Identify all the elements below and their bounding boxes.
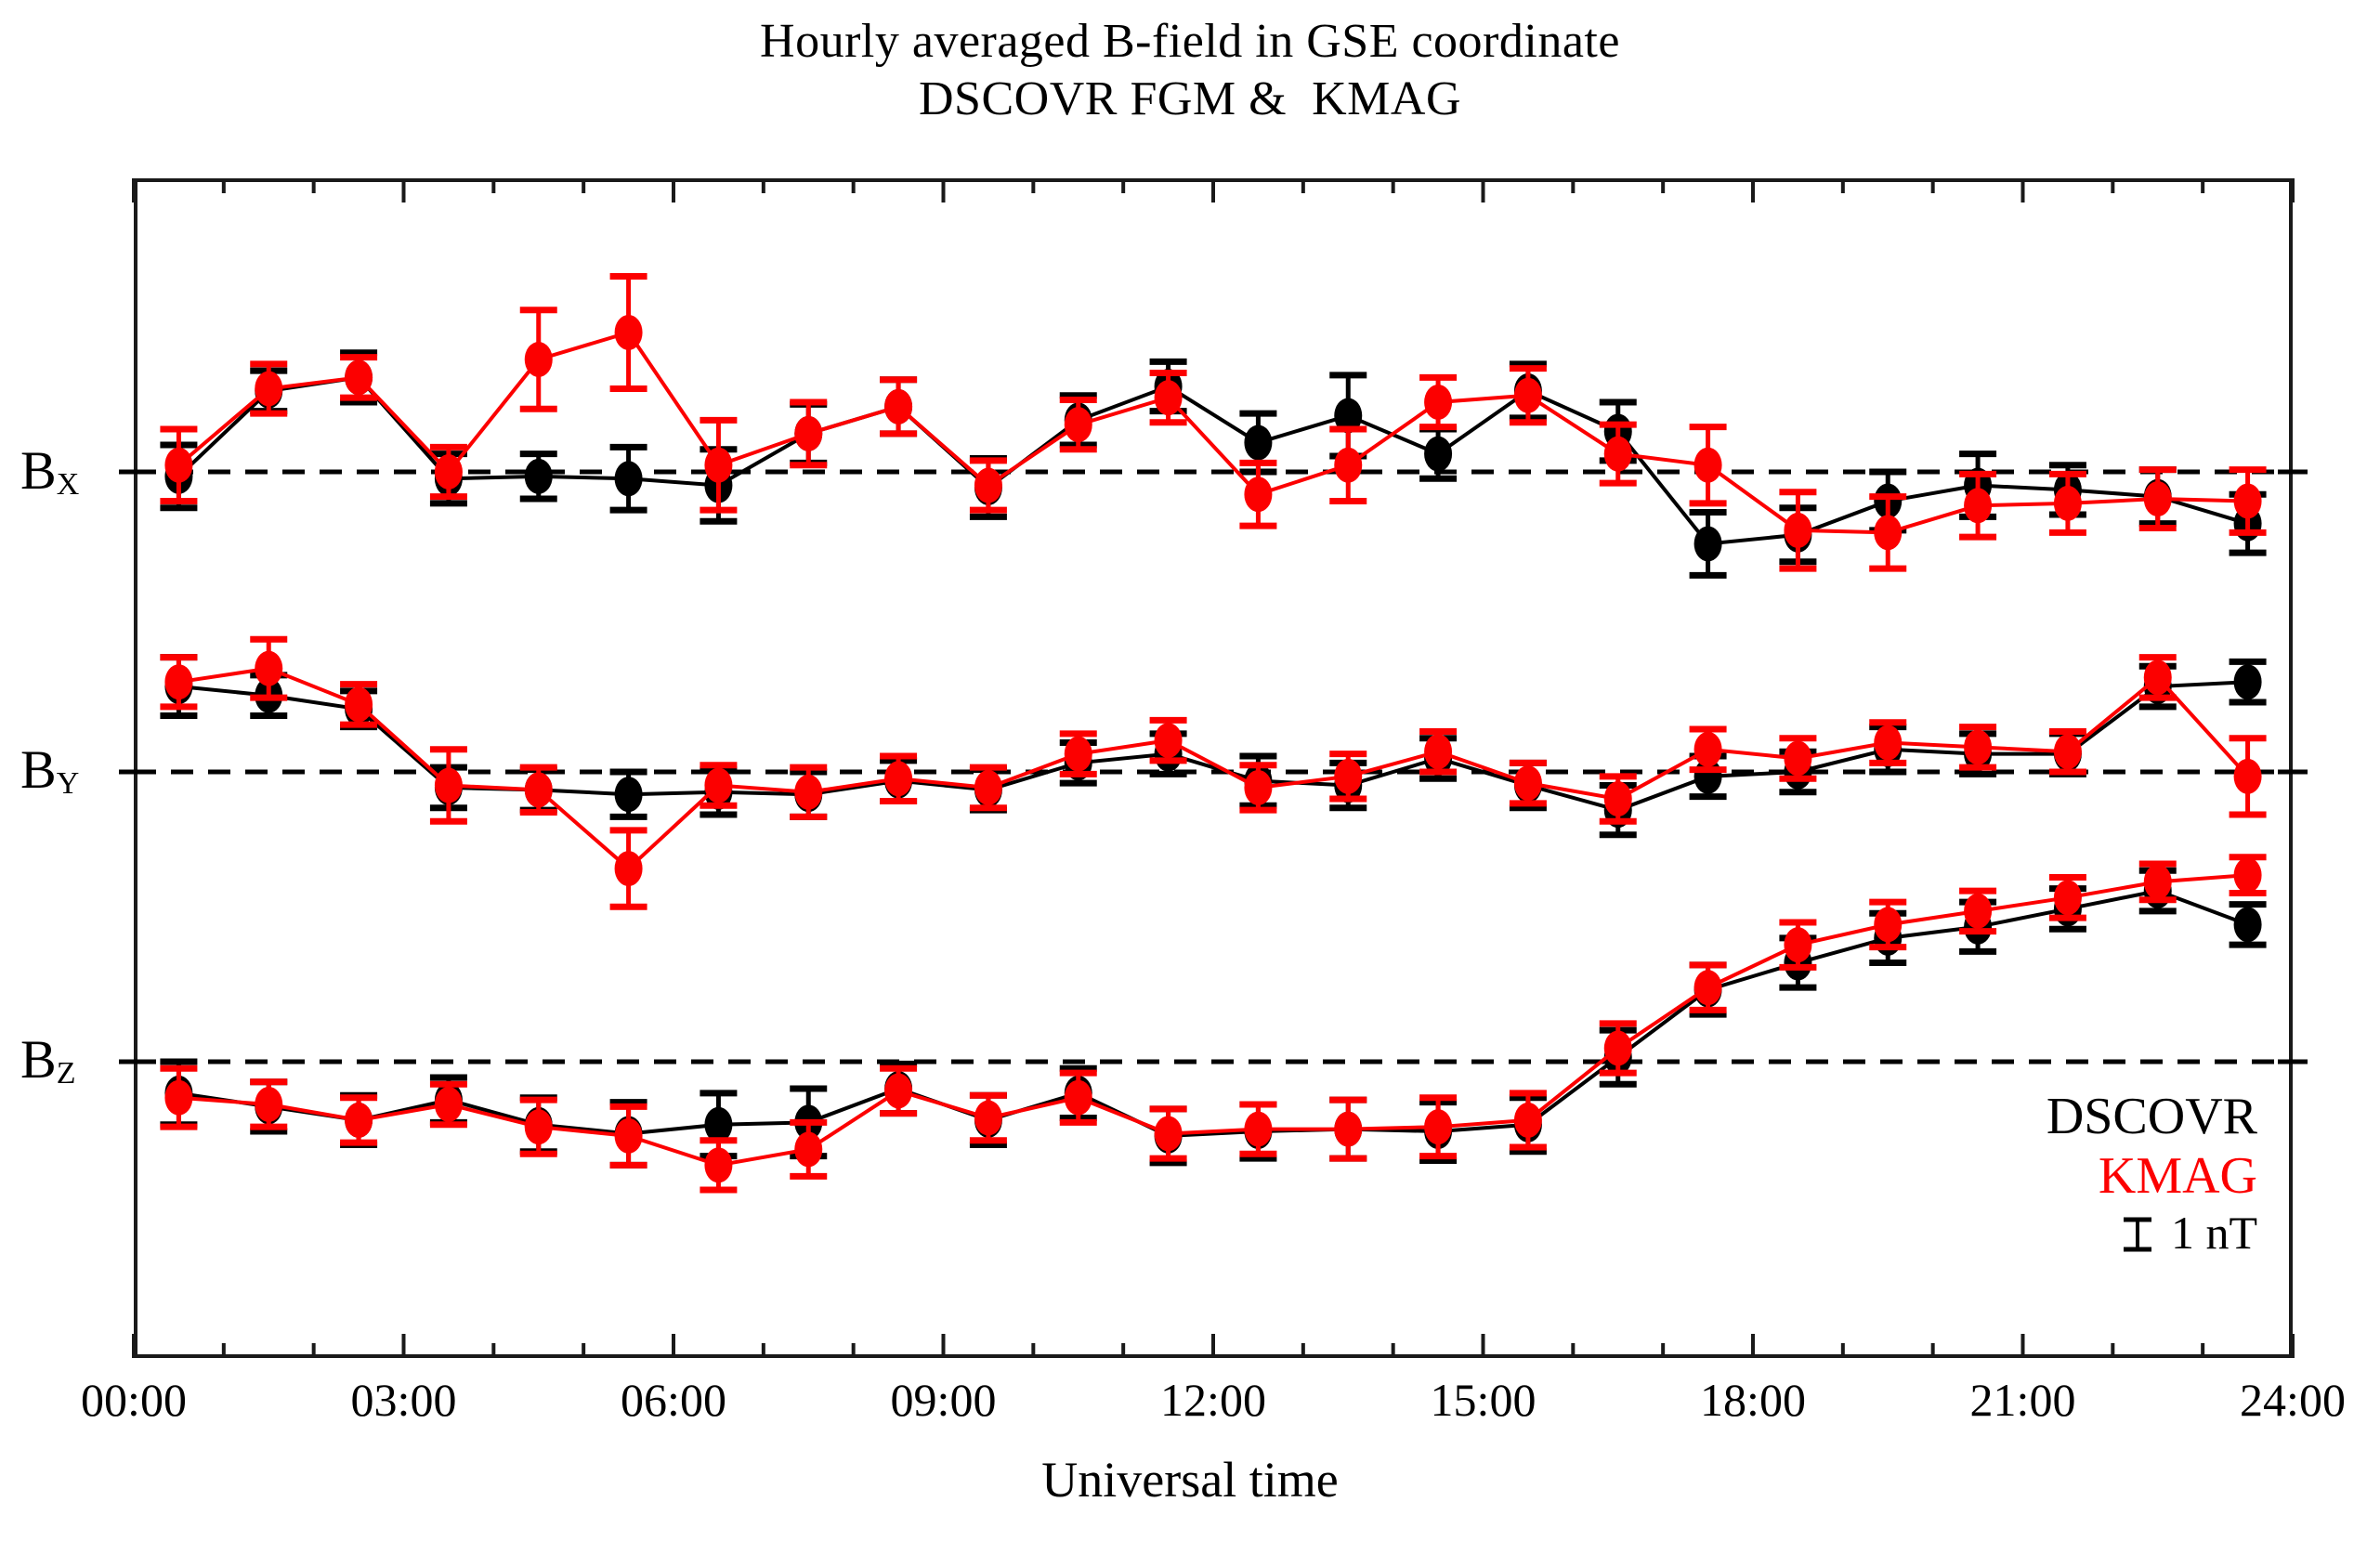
chart-title-block: Hourly averaged B-field in GSE coordinat… — [0, 13, 2380, 128]
panel-label-bx: BX — [20, 444, 79, 501]
panel-label-by-sub: Y — [57, 766, 80, 801]
legend-scale-bar-label: 1 nT — [1821, 1206, 2257, 1260]
legend-item-dscovr: DSCOVR — [1821, 1087, 2257, 1146]
x-tick-label: 21:00 — [1970, 1377, 2076, 1423]
x-tick-label: 06:00 — [621, 1377, 726, 1423]
panel-label-by: BY — [20, 743, 79, 800]
chart-title-line-2: DSCOVR FGM & KMAG — [0, 71, 2380, 128]
panel-label-bz-sub: Z — [57, 1056, 76, 1090]
x-tick-label: 12:00 — [1160, 1377, 1266, 1423]
x-tick-label: 24:00 — [2240, 1377, 2346, 1423]
x-tick-label: 09:00 — [891, 1377, 997, 1423]
panel-label-bx-sub: X — [57, 467, 80, 502]
x-tick-label: 00:00 — [81, 1377, 187, 1423]
scale-bar-icon — [2116, 1213, 2159, 1256]
legend-scale-text: 1 nT — [2171, 1207, 2257, 1259]
x-axis-title: Universal time — [0, 1451, 2380, 1508]
chart-root: Hourly averaged B-field in GSE coordinat… — [0, 0, 2380, 1541]
legend-item-kmag: KMAG — [1821, 1146, 2257, 1206]
x-tick-label: 15:00 — [1431, 1377, 1537, 1423]
panel-label-bz: BZ — [20, 1033, 75, 1090]
chart-title-line-1: Hourly averaged B-field in GSE coordinat… — [0, 13, 2380, 71]
legend: DSCOVR KMAG 1 nT — [1821, 1087, 2257, 1260]
x-tick-label: 18:00 — [1700, 1377, 1806, 1423]
x-tick-label: 03:00 — [351, 1377, 457, 1423]
